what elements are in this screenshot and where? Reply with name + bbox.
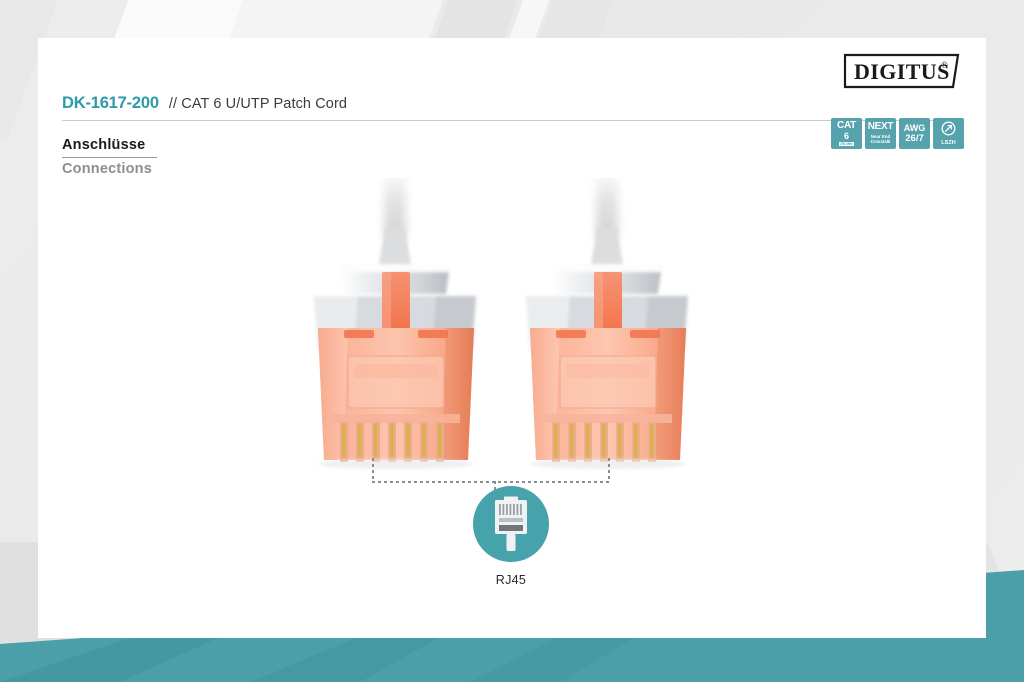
lszh-badge-caption: LSZH — [941, 141, 955, 146]
product-sku: DK-1617-200 — [62, 94, 159, 113]
logo-wordmark: DIGITUS — [854, 59, 950, 84]
cat6-badge-line1: CAT — [837, 121, 856, 131]
next-badge: NEXT Near End Crosstalk — [865, 118, 896, 149]
product-image — [38, 178, 986, 488]
content-card: DIGITUS ® DK-1617-200 // CAT 6 U/UTP Pat… — [38, 38, 986, 638]
awg-badge: AWG 26/7 — [899, 118, 930, 149]
section-title-de: Anschlüsse — [62, 137, 145, 155]
datasheet-page: DIGITUS ® DK-1617-200 // CAT 6 U/UTP Pat… — [0, 0, 1024, 682]
callout-line-left — [372, 458, 374, 482]
header-description-text: CAT 6 U/UTP Patch Cord — [181, 96, 347, 112]
product-description: // CAT 6 U/UTP Patch Cord — [169, 96, 347, 112]
section-title-underline — [62, 157, 157, 158]
callout-line-right — [608, 458, 610, 482]
next-badge-line1: NEXT — [868, 122, 893, 132]
cat6-badge-line2: 6 — [844, 132, 849, 141]
feature-badges: CAT 6 250 MHz NEXT Near End Crosstalk AW… — [831, 118, 964, 149]
callout-line-horizontal — [372, 481, 610, 483]
header-divider — [62, 120, 962, 121]
section-title-en: Connections — [62, 161, 157, 177]
logo-registered-mark: ® — [941, 60, 948, 70]
awg-badge-line1: AWG — [904, 124, 926, 133]
digitus-logo: DIGITUS ® — [843, 52, 960, 90]
section-heading: Anschlüsse Connections — [62, 136, 157, 177]
next-badge-subtitle: Near End Crosstalk — [865, 134, 896, 145]
rj45-plug-right — [506, 178, 706, 478]
rj45-plug-left — [296, 178, 496, 478]
lszh-symbol-icon — [941, 121, 956, 140]
cat6-badge-line3: 250 MHz — [839, 142, 855, 146]
product-header: DK-1617-200 // CAT 6 U/UTP Patch Cord — [62, 94, 962, 121]
lszh-badge: LSZH — [933, 118, 964, 149]
rj45-label: RJ45 — [456, 573, 566, 587]
cat6-badge: CAT 6 250 MHz — [831, 118, 862, 149]
rj45-callout: RJ45 — [456, 486, 566, 587]
awg-badge-line2: 26/7 — [905, 134, 924, 144]
rj45-connector-icon — [473, 486, 549, 562]
header-separator: // — [169, 96, 177, 112]
